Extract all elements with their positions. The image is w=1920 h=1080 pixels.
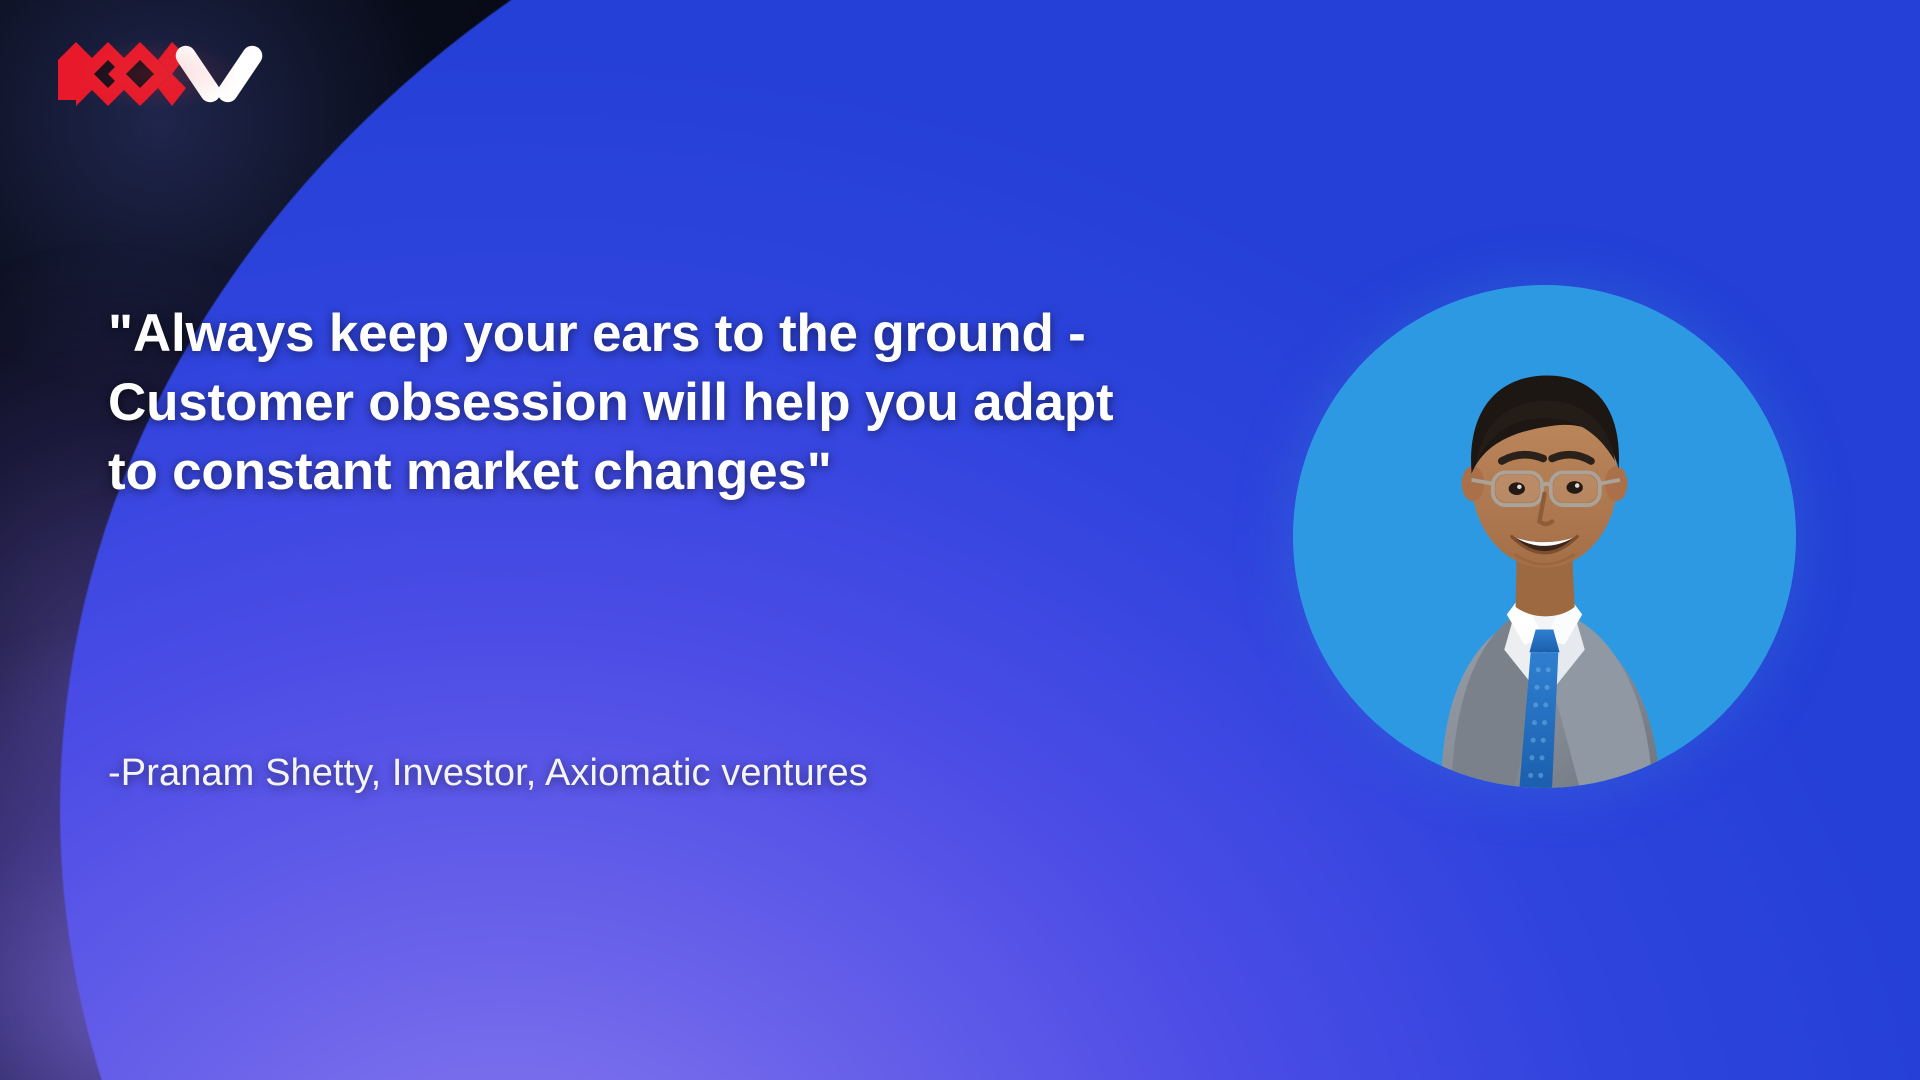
100x-logo-icon (46, 38, 261, 108)
avatar (1293, 285, 1796, 788)
quote-text: "Always keep your ears to the ground - C… (108, 300, 1168, 507)
quote-block: "Always keep your ears to the ground - C… (108, 300, 1168, 507)
portrait-illustration (1293, 285, 1796, 788)
attribution-line: -Pranam Shetty, Investor, Axiomatic vent… (108, 752, 868, 795)
quote-card: "Always keep your ears to the ground - C… (0, 0, 1920, 1080)
logo-100x[interactable] (46, 38, 261, 108)
